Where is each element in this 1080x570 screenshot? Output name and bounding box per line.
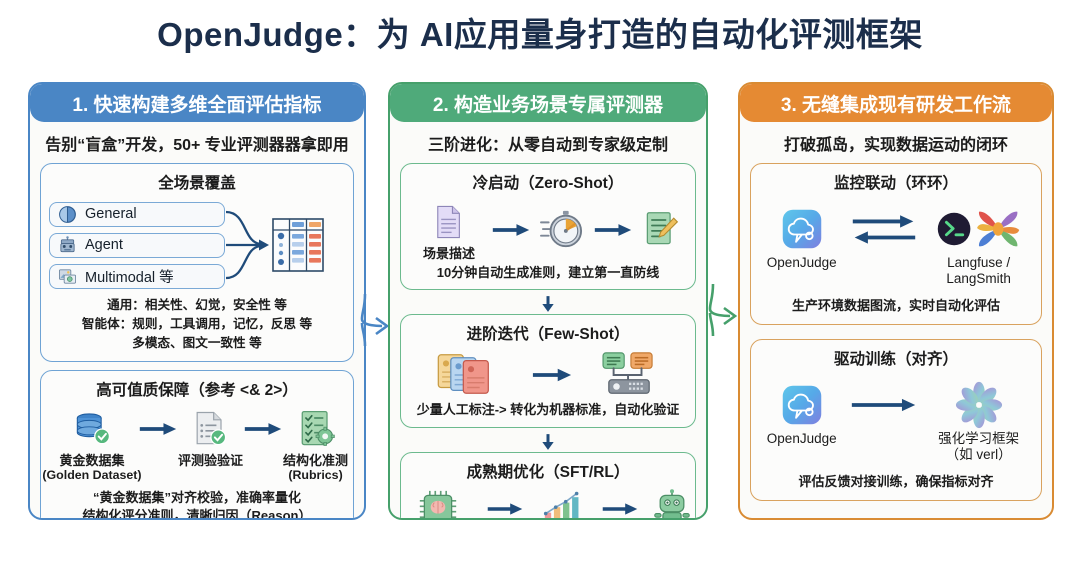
step-judge-model: 专属 Judge 模型 <box>390 487 486 520</box>
arrow-right-icon <box>243 405 283 453</box>
step-label-main: 强化学习框架 <box>938 431 1019 446</box>
database-check-icon <box>70 405 114 453</box>
card-sft-rl: 成熟期优化（SFT/RL） <box>400 452 696 520</box>
checklist-gear-icon <box>294 405 338 453</box>
card-few-shot: 进阶迭代（Few-Shot） <box>400 314 696 428</box>
sidebar-item-agent[interactable]: Agent <box>49 233 225 258</box>
step-rl-framework: 强化学习框架 （如 verl） <box>922 379 1035 463</box>
langfuse-langsmith-icon <box>930 203 1028 255</box>
column-3-subtitle: 打破孤岛，实现数据运动的闭环 <box>740 122 1052 163</box>
robot-green-icon <box>652 487 692 520</box>
card-title: 成熟期优化（SFT/RL） <box>407 460 689 482</box>
multimodal-image-icon <box>58 267 77 286</box>
step-label: 场景描述 <box>423 246 475 262</box>
step-label: 评测验验证 <box>178 453 243 469</box>
step-label-sub: （如 verl） <box>946 447 1012 462</box>
page-title: OpenJudge：为 AI应用量身打造的自动化评测框架 <box>0 8 1080 56</box>
step-label: 黄金数据集 (Golden Dataset) <box>42 453 141 483</box>
step-note-pencil <box>636 206 686 254</box>
few-shot-steps <box>407 349 689 401</box>
document-purple-icon <box>430 198 468 246</box>
quality-notes: “黄金数据集”对齐校验，准确率量化 结构化评分准则，清晰归因（Reason） <box>47 489 347 520</box>
step-label-main: 结构化准测 <box>283 453 348 468</box>
column-1-header: 1. 快速构建多维全面评估指标 <box>30 84 364 122</box>
step-label-sub: LangSmith <box>946 271 1011 286</box>
step-scenario-description: 场景描述 <box>410 198 488 262</box>
step-human-annotations <box>419 349 523 401</box>
step-evaluation-verify: 评测验验证 <box>178 405 243 469</box>
step-label: Langfuse / LangSmith <box>946 255 1011 287</box>
monitoring-steps: OpenJudge <box>757 201 1035 287</box>
connector-col2-to-col3 <box>708 282 738 338</box>
note-pencil-icon <box>641 206 681 254</box>
training-note: 评估反馈对接训练，确保指标对齐 <box>757 473 1035 491</box>
column-build-evaluators: 2. 构造业务场景专属评测器 三阶进化：从零自动到专家级定制 冷启动（Zero-… <box>388 82 708 520</box>
step-label: OpenJudge <box>767 431 837 447</box>
step-golden-dataset: 黄金数据集 (Golden Dataset) <box>46 405 138 483</box>
bar-chart-up-icon <box>539 487 587 520</box>
card-quality-assurance: 高可值质保障（参考 <& 2>） 黄金数据集 <box>40 370 354 520</box>
sidebar-item-multimodal[interactable]: Multimodal 等 <box>49 264 225 289</box>
step-label-sub: (Golden Dataset) <box>42 468 141 483</box>
card-title: 冷启动（Zero-Shot） <box>407 171 689 193</box>
step-label-main: 黄金数据集 <box>59 453 124 468</box>
sidebar-item-general[interactable]: General <box>49 202 225 227</box>
arrow-right-icon <box>486 487 524 520</box>
pill-label: Agent <box>85 237 123 253</box>
step-openjudge: OpenJudge <box>757 379 846 447</box>
card-title: 监控联动（环环） <box>757 171 1035 193</box>
step-label-main: 评测验验证 <box>178 453 243 468</box>
step-label-sub: (Rubrics) <box>283 468 348 483</box>
pill-to-dashboard-connector <box>225 199 269 291</box>
scenario-pill-group: General <box>47 198 347 294</box>
document-check-icon <box>188 405 232 453</box>
card-title: 进阶迭代（Few-Shot） <box>407 322 689 344</box>
arrow-right-icon <box>523 351 581 399</box>
server-nodes-icon <box>592 349 666 401</box>
note-line: “黄金数据集”对齐校验，准确率量化 <box>47 489 347 507</box>
stacked-cards-icon <box>434 349 508 401</box>
note-line: 结构化评分准则，清晰归因（Reason） <box>47 507 347 520</box>
column-1-subtitle: 告别“盲盒”开发，50+ 专业评测器器拿即用 <box>30 122 364 163</box>
column-integrate-workflow: 3. 无缝集成现有研发工作流 打破孤岛，实现数据运动的闭环 监控联动（环环） <box>738 82 1054 520</box>
step-label: 强化学习框架 （如 verl） <box>938 431 1019 463</box>
card-title: 全场景覆盖 <box>47 171 347 193</box>
openjudge-logo-icon <box>780 379 824 431</box>
general-circle-icon <box>58 205 77 224</box>
step-label: 结构化准测 (Rubrics) <box>283 453 348 483</box>
few-shot-note: 少量人工标注-> 转化为机器标准，自动化验证 <box>407 401 689 419</box>
card-monitoring-loop: 监控联动（环环） <box>750 163 1042 325</box>
step-label-main: Langfuse / <box>947 255 1010 270</box>
arrow-right-icon <box>590 206 636 254</box>
legend-line: 多模态、图文一致性 等 <box>47 334 347 353</box>
step-reward-signal: Reward 信号 <box>524 487 601 520</box>
robot-icon <box>58 236 77 255</box>
arrow-right-icon <box>488 206 534 254</box>
card-title: 驱动训练（对齐） <box>757 347 1035 369</box>
column-3-header: 3. 无缝集成现有研发工作流 <box>740 84 1052 122</box>
diagram-canvas: OpenJudge：为 AI应用量身打造的自动化评测框架 1. 快速构建多维全面… <box>0 0 1080 570</box>
chip-brain-icon <box>418 487 458 520</box>
bidirectional-arrow-icon <box>846 203 922 255</box>
step-machine-standard <box>581 349 677 401</box>
verl-flower-icon <box>955 379 1003 431</box>
arrow-right-icon <box>138 405 178 453</box>
down-arrow-zero-to-few <box>390 296 706 313</box>
card-title: 高可值质保障（参考 <& 2>） <box>47 378 347 400</box>
stopwatch-icon <box>539 206 585 254</box>
zero-shot-steps: 场景描述 <box>407 198 689 262</box>
legend-line: 通用：相关性、幻觉，安全性 等 <box>47 296 347 315</box>
sft-rl-steps: 专属 Judge 模型 <box>407 487 689 520</box>
pill-label: Multimodal 等 <box>85 266 174 287</box>
arrow-right-icon <box>601 487 639 520</box>
step-rubrics: 结构化准测 (Rubrics) <box>283 405 348 483</box>
monitoring-note: 生产环境数据图流，实时自动化评估 <box>757 297 1035 315</box>
down-arrow-few-to-sft <box>390 434 706 451</box>
card-zero-shot: 冷启动（Zero-Shot） 场景描述 <box>400 163 696 290</box>
step-langfuse-langsmith: Langfuse / LangSmith <box>922 203 1035 287</box>
step-stopwatch <box>534 206 590 254</box>
dashboard-table-icon <box>271 213 325 277</box>
legend-line: 智能体：规则，工具调用，记忆，反思 等 <box>47 315 347 334</box>
step-label: OpenJudge <box>767 255 837 271</box>
step-openjudge: OpenJudge <box>757 203 846 271</box>
card-scenario-coverage: 全场景覆盖 General <box>40 163 354 362</box>
training-steps: OpenJudge <box>757 377 1035 463</box>
column-2-header: 2. 构造业务场景专属评测器 <box>390 84 706 122</box>
connector-col1-to-col2 <box>360 292 390 348</box>
quality-steps: 黄金数据集 (Golden Dataset) <box>47 405 347 483</box>
card-training-alignment: 驱动训练（对齐） <box>750 339 1042 501</box>
step-agent-evolution: Agent 进化 <box>639 487 705 520</box>
zero-shot-note: 10分钟自动生成准则，建立第一直防线 <box>407 264 689 282</box>
scenario-legend: 通用：相关性、幻觉，安全性 等 智能体：规则，工具调用，记忆，反思 等 多模态、… <box>47 296 347 353</box>
column-2-subtitle: 三阶进化：从零自动到专家级定制 <box>390 122 706 163</box>
arrow-right-icon <box>846 379 922 431</box>
pill-label: General <box>85 206 137 222</box>
column-build-metrics: 1. 快速构建多维全面评估指标 告别“盲盒”开发，50+ 专业评测器器拿即用 全… <box>28 82 366 520</box>
openjudge-logo-icon <box>780 203 824 255</box>
